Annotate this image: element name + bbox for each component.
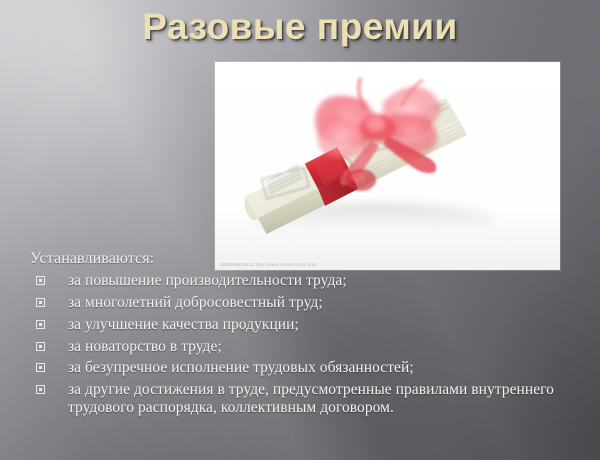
square-bullet-icon (36, 342, 45, 351)
square-bullet-icon (36, 363, 45, 372)
list-item-label: за безупречное исполнение трудовых обяза… (68, 359, 414, 376)
square-bullet-icon (36, 385, 45, 394)
square-bullet-icon (36, 298, 45, 307)
money-bundle-with-red-ribbon-photo: 1481094824512 http://www.shutterstock.co… (215, 62, 560, 270)
list-item: за безупречное исполнение трудовых обяза… (30, 359, 582, 376)
money-bundle-illustration (215, 62, 560, 270)
body-intro-text: Устанавливаются: (30, 251, 582, 267)
list-item-label: за другие достижения в труде, предусмотр… (68, 381, 554, 415)
list-item-label: за улучшение качества продукции; (68, 316, 299, 333)
list-item: за другие достижения в труде, предусмотр… (30, 381, 582, 416)
list-item: за новаторство в труде; (30, 338, 582, 355)
list-item-label: за новаторство в труде; (68, 338, 222, 355)
slide-title: Разовые премии (0, 6, 600, 48)
list-item: за многолетний добросовестный труд; (30, 294, 582, 311)
presentation-slide: Разовые премии (0, 0, 600, 460)
list-item: за улучшение качества продукции; (30, 316, 582, 333)
square-bullet-icon (36, 276, 45, 285)
square-bullet-icon (36, 320, 45, 329)
list-item: за повышение производительности труда; (30, 272, 582, 289)
bullet-list: за повышение производительности труда; з… (30, 272, 582, 416)
list-item-label: за многолетний добросовестный труд; (68, 294, 323, 311)
list-item-label: за повышение производительности труда; (68, 272, 347, 289)
slide-body: Устанавливаются: за повышение производит… (30, 251, 582, 416)
photo-content: 1481094824512 http://www.shutterstock.co… (215, 62, 560, 270)
